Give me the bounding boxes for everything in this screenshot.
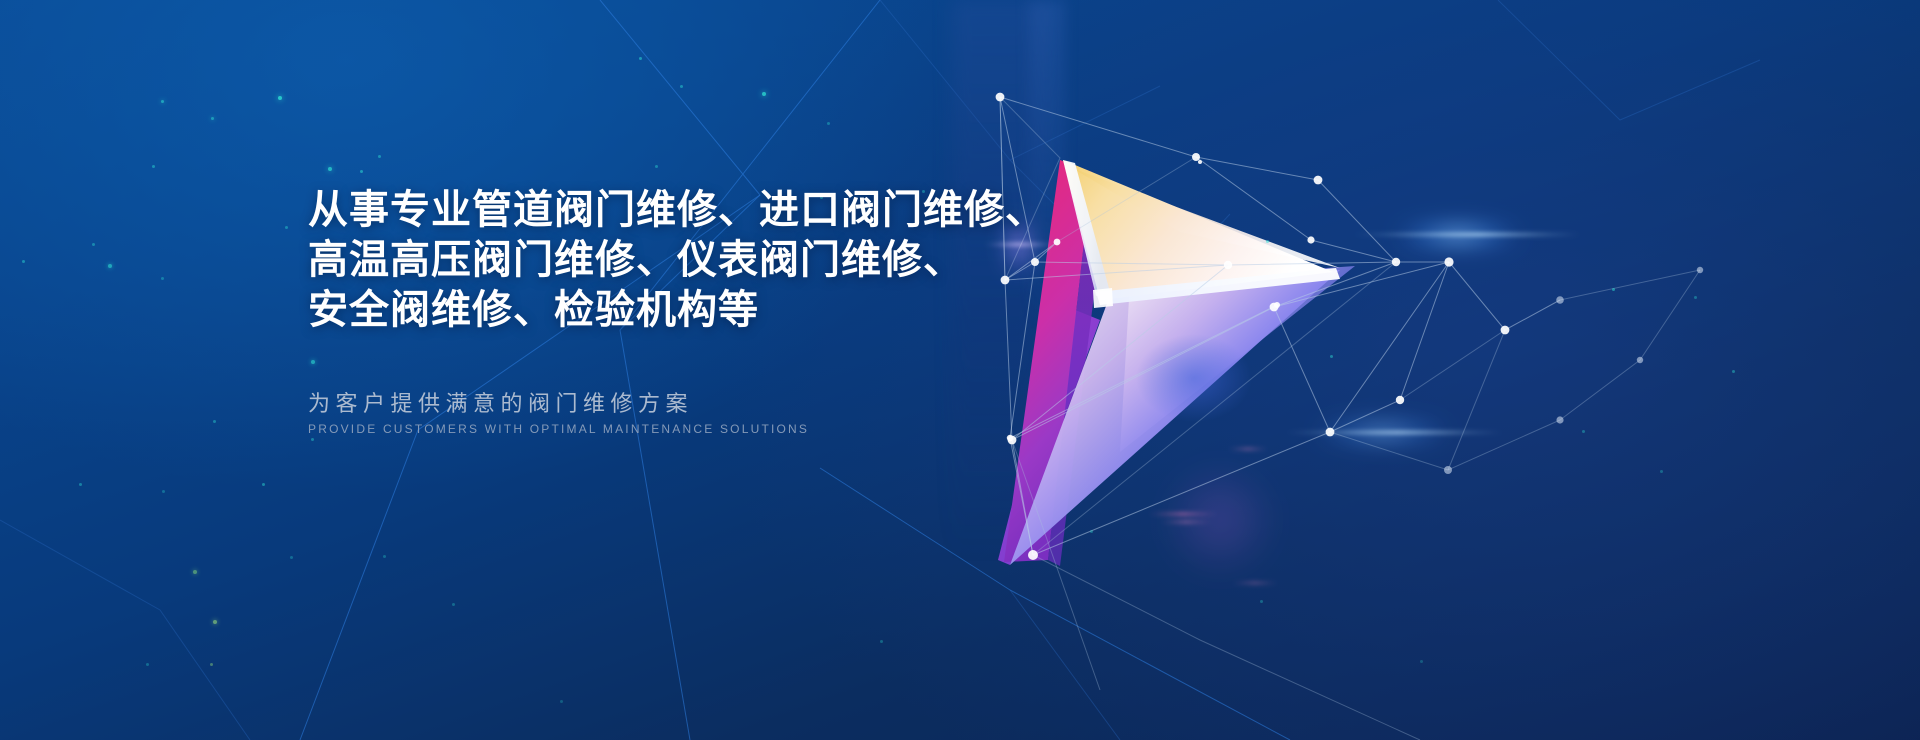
arrow-lower-wing-ext bbox=[1120, 266, 1355, 452]
arrow-upper-wing-2 bbox=[1072, 168, 1340, 268]
blue-streak-right bbox=[1352, 233, 1582, 236]
network-nodes bbox=[996, 93, 1704, 560]
red-streak-d bbox=[1232, 582, 1278, 584]
headline-line-1: 从事专业管道阀门维修、进口阀门维修、 bbox=[308, 185, 1068, 235]
arrow-upper-wing bbox=[1063, 160, 1333, 300]
subtitle-english: Provide customers with optimal maintenan… bbox=[308, 420, 1068, 438]
banner-copy-block: 从事专业管道阀门维修、进口阀门维修、 高温高压阀门维修、仪表阀门维修、 安全阀维… bbox=[308, 185, 1068, 438]
arrow-inner-blue-glow bbox=[1136, 334, 1252, 422]
arrow-hub-highlight bbox=[1093, 288, 1113, 308]
arrow-spine bbox=[1063, 160, 1110, 296]
red-streak-b bbox=[1160, 521, 1212, 523]
headline-line-3: 安全阀维修、检验机构等 bbox=[308, 285, 1068, 335]
subtitle-chinese: 为客户提供满意的阀门维修方案 bbox=[308, 389, 1068, 419]
magenta-glow-bottom bbox=[1160, 460, 1280, 580]
hero-banner: 从事专业管道阀门维修、进口阀门维修、 高温高压阀门维修、仪表阀门维修、 安全阀维… bbox=[0, 0, 1920, 740]
wire-lines bbox=[1000, 97, 1700, 740]
blue-streak-lower-right bbox=[1284, 431, 1504, 434]
red-streak-a bbox=[1148, 513, 1218, 515]
subtitle-block: 为客户提供满意的阀门维修方案 Provide customers with op… bbox=[308, 389, 1068, 438]
blue-flare-right bbox=[1398, 222, 1518, 248]
blue-flare-lower-right bbox=[1318, 420, 1448, 444]
arrow-center-bar bbox=[1096, 268, 1340, 305]
headline-line-2: 高温高压阀门维修、仪表阀门维修、 bbox=[308, 235, 1068, 285]
red-streak-c bbox=[1228, 448, 1268, 450]
